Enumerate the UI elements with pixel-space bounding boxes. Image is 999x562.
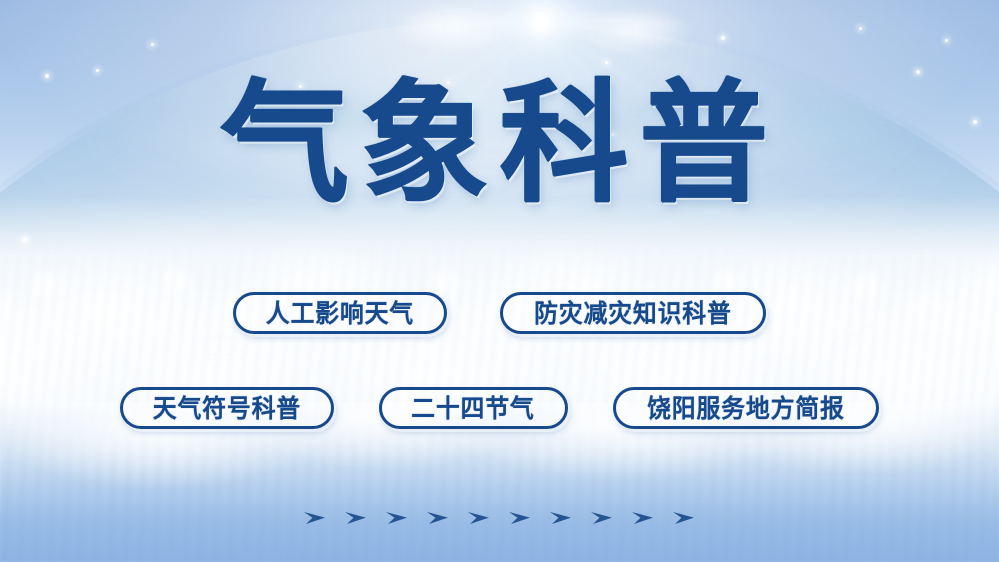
sparkle-dot [916,70,920,74]
topic-button-label: 天气符号科普 [153,396,301,421]
topic-button-label: 防灾减灾知识科普 [534,301,732,326]
topic-button-24-solar-terms[interactable]: 二十四节气 [379,387,567,429]
arrow-decoration-strip [0,508,999,528]
chevron-right-icon [467,508,491,528]
chevron-right-icon [590,508,614,528]
topic-button-artificial-weather[interactable]: 人工影响天气 [233,292,447,334]
topic-button-label: 饶阳服务地方简报 [647,396,845,421]
topic-row-2: 天气符号科普 二十四节气 饶阳服务地方简报 [0,387,999,429]
topic-button-disaster-prevention[interactable]: 防灾减灾知识科普 [500,292,766,334]
sparkle-dot [151,43,154,46]
topic-row-1: 人工影响天气 防灾减灾知识科普 [0,292,999,334]
sparkle-dot [721,36,725,40]
sparkle-dot [96,69,99,72]
title-area: 气象科普 [0,78,999,210]
chevron-right-icon [549,508,573,528]
chevron-right-icon [631,508,655,528]
sun-burst-icon [536,17,546,27]
chevron-right-icon [508,508,532,528]
weather-science-poster: 气象科普 人工影响天气 防灾减灾知识科普 天气符号科普 二十四节气 饶阳服务地方… [0,0,999,562]
sparkle-dot [859,27,862,30]
chevron-right-icon [303,508,327,528]
topic-button-raoyang-local-bulletin[interactable]: 饶阳服务地方简报 [613,387,879,429]
chevron-right-icon [385,508,409,528]
sparkle-dot [945,39,948,42]
topic-button-label: 二十四节气 [412,396,536,421]
chevron-right-icon [344,508,368,528]
topic-button-label: 人工影响天气 [266,301,414,326]
page-title: 气象科普 [220,78,779,210]
sparkle-dot [605,61,608,64]
chevron-right-icon [672,508,696,528]
topic-button-weather-symbols[interactable]: 天气符号科普 [120,387,334,429]
bottom-cloud-streaks [0,427,999,562]
chevron-right-icon [426,508,450,528]
